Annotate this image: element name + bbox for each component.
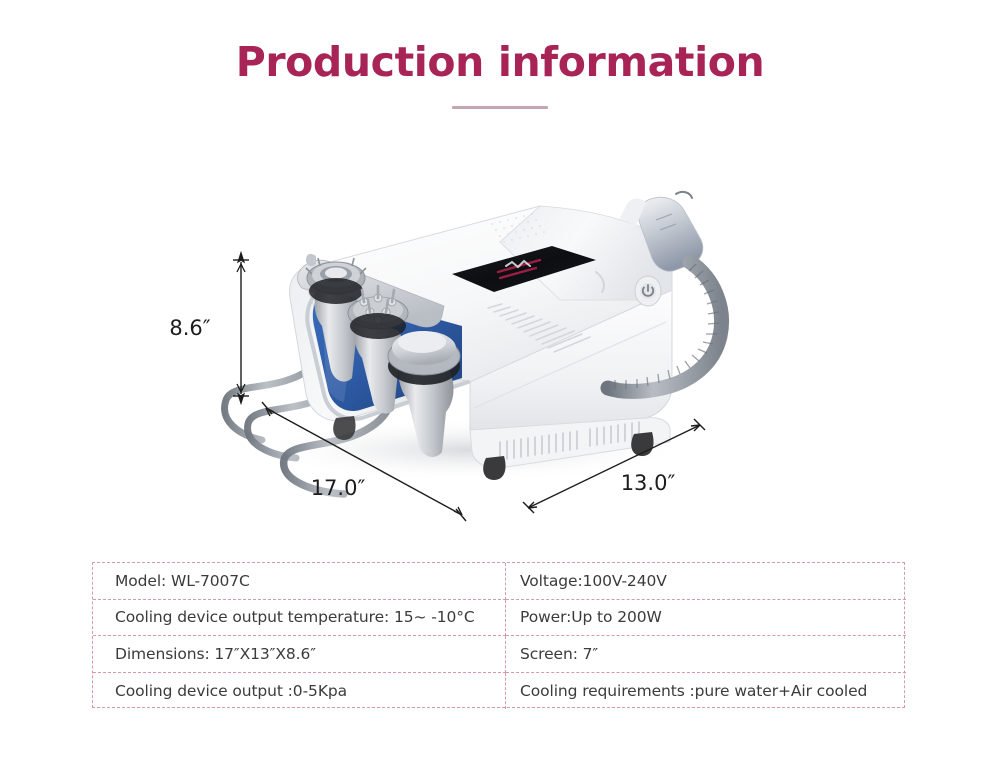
- title-divider: [452, 106, 548, 109]
- page-title: Production information: [0, 38, 1000, 86]
- spec-cell-voltage: Voltage:100V-240V: [506, 563, 906, 600]
- foot-rear-left: [333, 416, 355, 440]
- dimension-width-label: 17.0″: [311, 476, 366, 500]
- spec-cell-cooling-output: Cooling device output :0-5Kpa: [93, 673, 506, 710]
- spec-cell-cooling-requirements: Cooling requirements :pure water+Air coo…: [506, 673, 906, 710]
- foot-front-left: [483, 456, 505, 480]
- spec-cell-power: Power:Up to 200W: [506, 600, 906, 637]
- product-information-page: Production information: [0, 0, 1000, 766]
- spec-cell-cooling-temperature: Cooling device output temperature: 15~ -…: [93, 600, 506, 637]
- dimension-height-label: 8.6″: [169, 316, 210, 340]
- product-illustration: 8.6″ 17.0″ 13.0″: [0, 150, 1000, 550]
- spec-cell-screen: Screen: 7″: [506, 636, 906, 673]
- power-button[interactable]: [635, 276, 661, 306]
- dimension-height: [233, 260, 249, 396]
- specification-table: Model: WL-7007C Voltage:100V-240V Coolin…: [92, 562, 905, 708]
- spec-cell-model: Model: WL-7007C: [93, 563, 506, 600]
- spec-cell-dimensions: Dimensions: 17″X13″X8.6″: [93, 636, 506, 673]
- dimension-depth-label: 13.0″: [621, 471, 676, 495]
